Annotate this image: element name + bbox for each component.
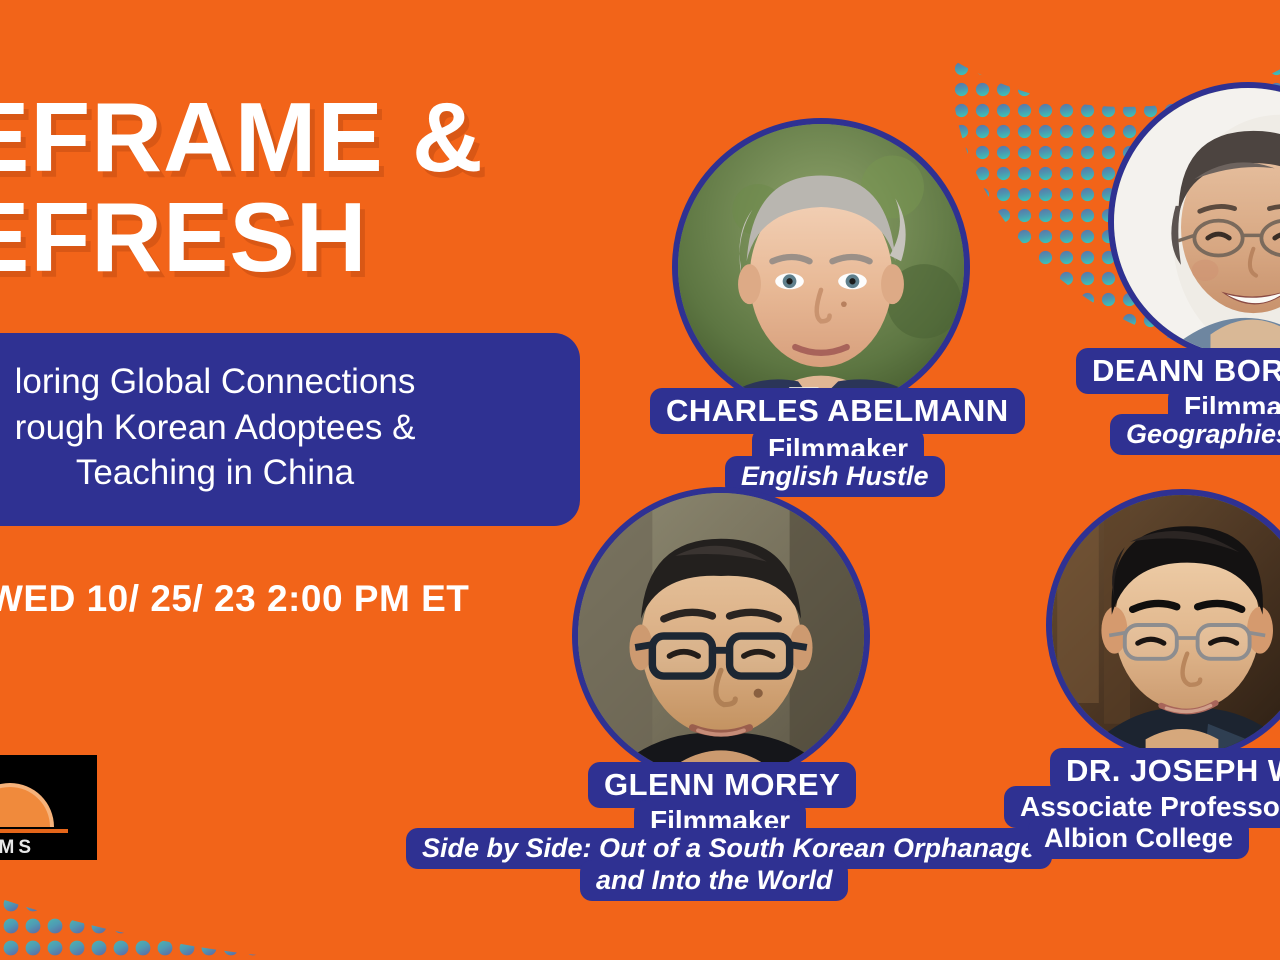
logo-text: FILMS xyxy=(0,837,35,859)
speaker-portrait-charles-abelmann xyxy=(672,118,970,416)
photo-glenn-morey xyxy=(578,493,864,779)
speaker-film-line2-glenn-morey: and Into the World xyxy=(580,860,848,901)
subtitle-line-1: loring Global Connections xyxy=(0,359,550,405)
photo-joseph-w xyxy=(1052,495,1280,755)
poster-canvas: EFRAME & EFRESH loring Global Connection… xyxy=(0,0,1280,960)
logo-rule xyxy=(0,829,68,833)
speaker-film-deann-borshay: Geographies o xyxy=(1110,414,1280,455)
title-line-1: EFRAME & xyxy=(0,88,584,188)
subtitle-line-3: Teaching in China xyxy=(0,450,550,496)
speaker-affiliation-joseph-w: Albion College xyxy=(1028,818,1249,859)
sunrise-arc-icon xyxy=(0,783,54,827)
speaker-portrait-deann-borshay xyxy=(1108,82,1280,362)
production-company-logo: FILMS xyxy=(0,755,97,860)
speaker-portrait-joseph-w xyxy=(1046,489,1280,761)
photo-charles-abelmann xyxy=(678,124,964,410)
subtitle-plate: loring Global Connections rough Korean A… xyxy=(0,333,580,526)
poster-title: EFRAME & EFRESH xyxy=(0,88,584,288)
title-line-2: EFRESH xyxy=(0,188,584,288)
photo-deann-borshay xyxy=(1114,88,1280,356)
subtitle-line-2: rough Korean Adoptees & xyxy=(0,405,550,451)
speaker-portrait-glenn-morey xyxy=(572,487,870,785)
event-datetime: WED 10/ 25/ 23 2:00 PM ET xyxy=(0,578,469,620)
